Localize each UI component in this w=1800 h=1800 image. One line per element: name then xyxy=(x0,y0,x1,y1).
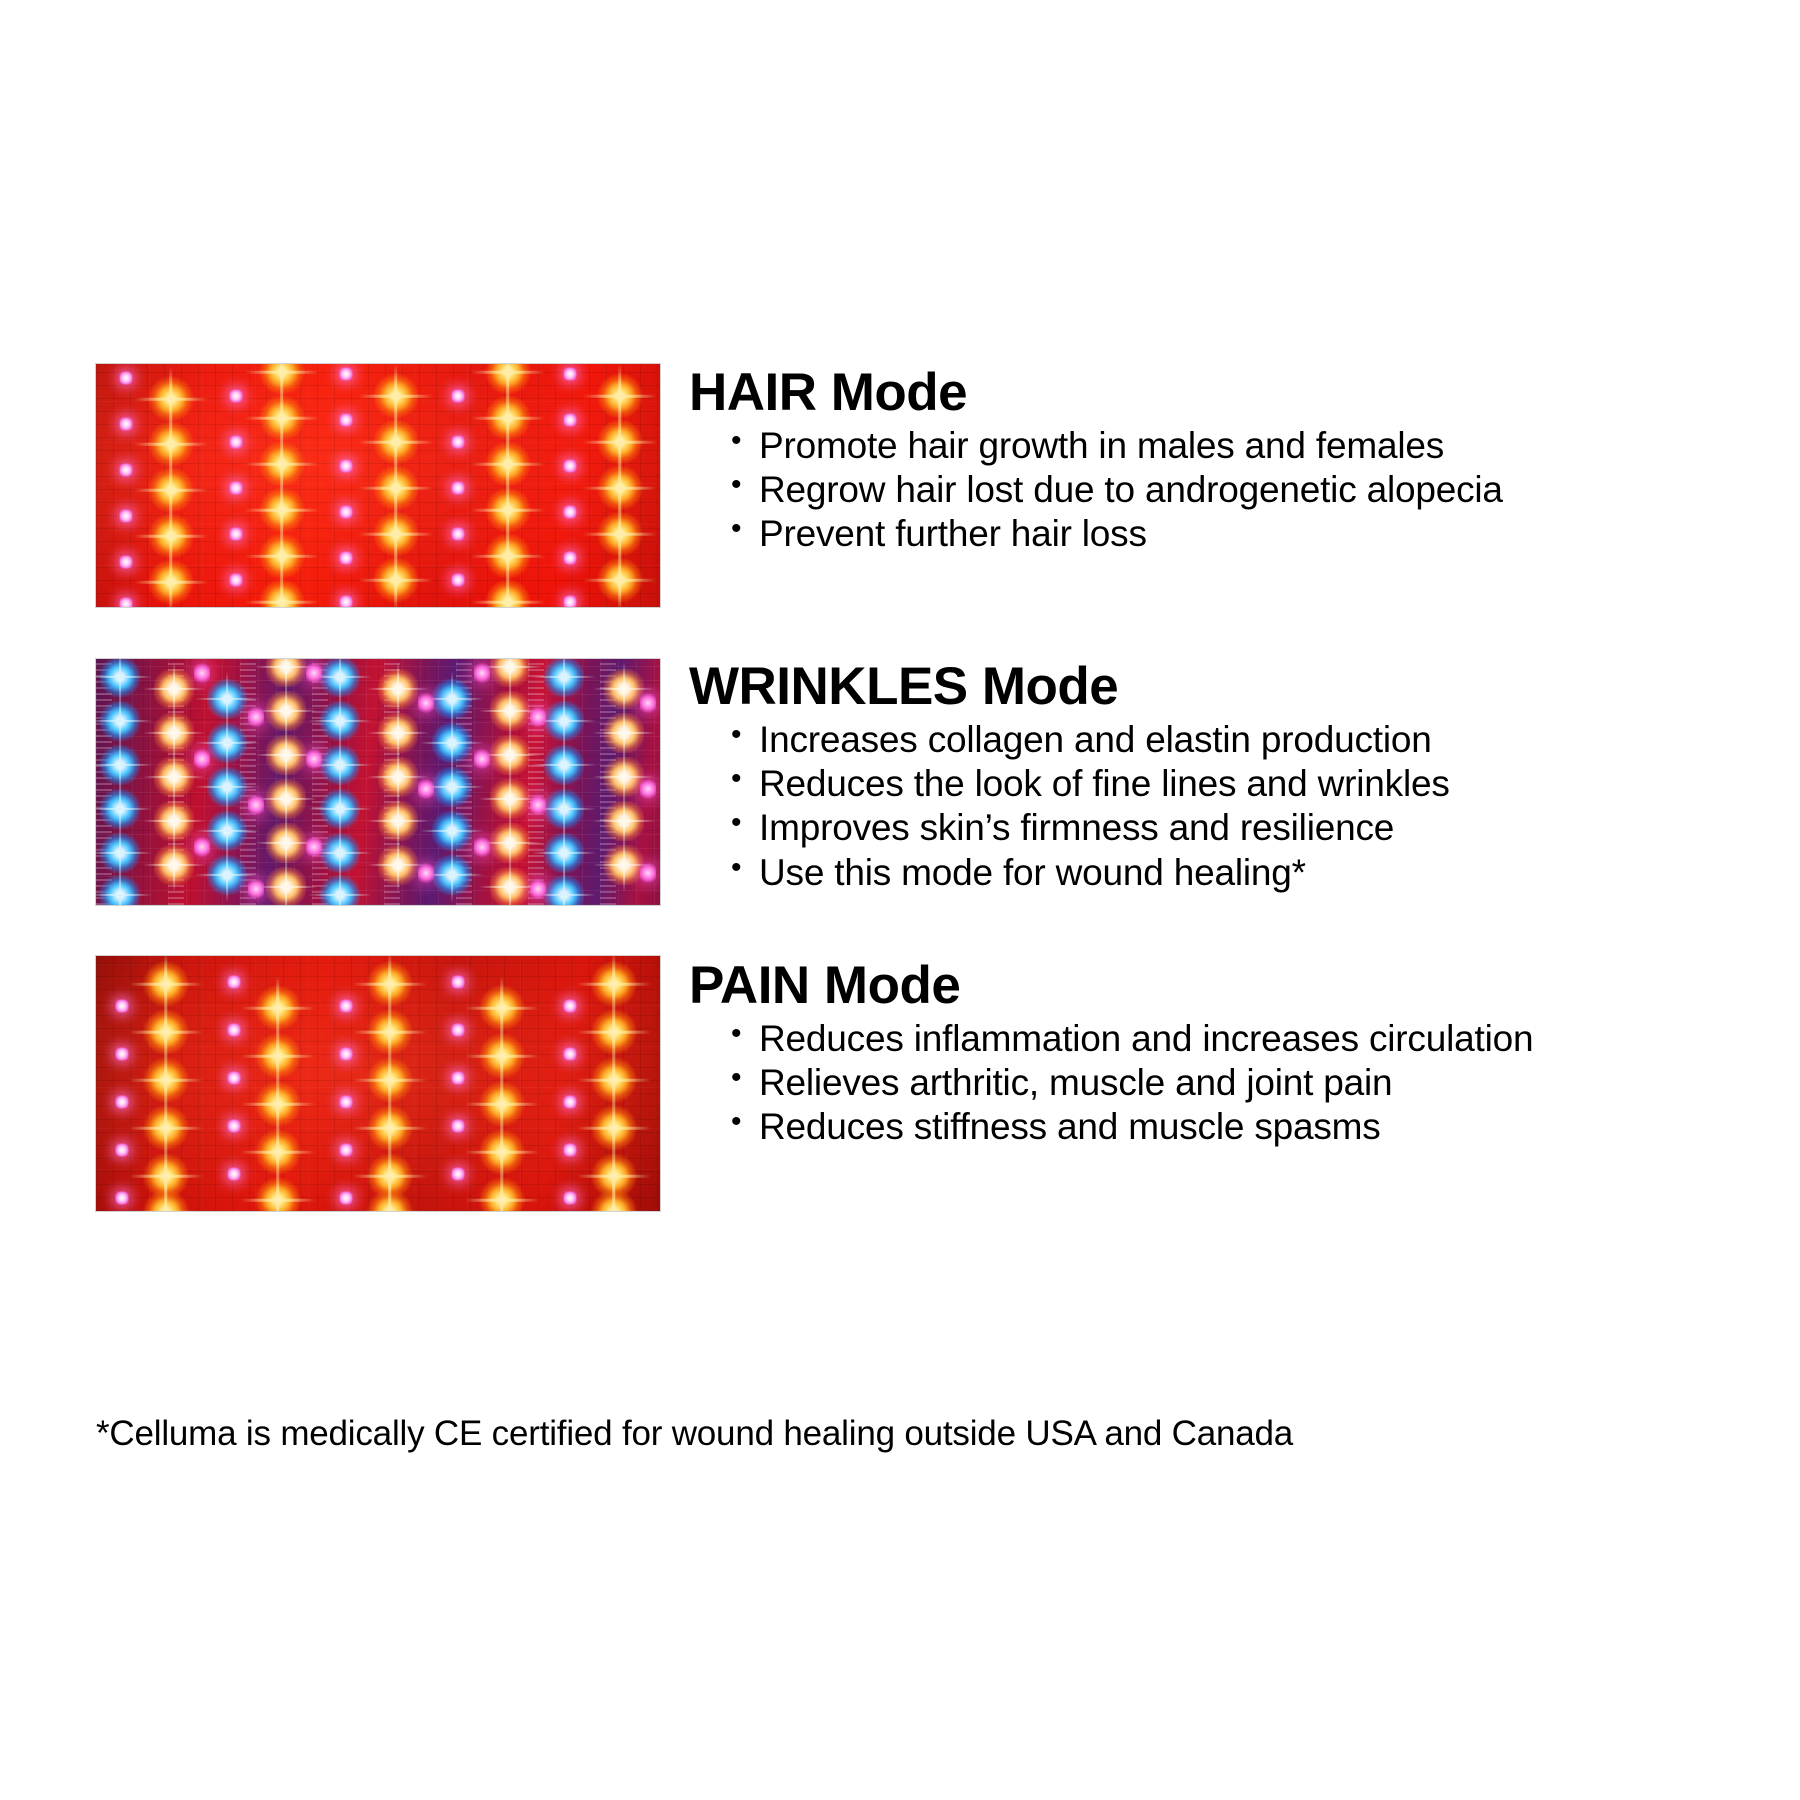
pink-led xyxy=(564,1192,577,1205)
white-led xyxy=(604,757,644,797)
footnote-text: *Celluma is medically CE certified for w… xyxy=(96,1414,1293,1454)
list-item: Reduces inflammation and increases circu… xyxy=(731,1018,1533,1060)
white-led xyxy=(378,713,418,753)
pink-led xyxy=(340,552,353,565)
blue-led xyxy=(432,723,472,763)
pink-led xyxy=(452,1120,465,1133)
magenta-led xyxy=(306,663,322,683)
blue-led xyxy=(544,701,584,741)
magenta-led xyxy=(530,707,546,727)
blue-led xyxy=(432,855,472,895)
pink-led xyxy=(120,418,133,431)
pink-led xyxy=(564,368,577,381)
list-item: Increases collagen and elastin productio… xyxy=(731,719,1450,761)
mode-text-pain: PAIN Mode Reduces inflammation and incre… xyxy=(689,955,1533,1151)
blue-led xyxy=(207,723,247,763)
magenta-led xyxy=(418,863,434,883)
mode-section-pain: PAIN Mode Reduces inflammation and incre… xyxy=(0,955,1800,1212)
blue-led xyxy=(544,789,584,829)
pink-led xyxy=(228,1168,241,1181)
blue-led xyxy=(100,658,140,697)
pink-led xyxy=(340,1192,353,1205)
white-led xyxy=(490,691,530,731)
magenta-led xyxy=(194,663,210,683)
blue-led xyxy=(207,855,247,895)
pink-led xyxy=(120,372,133,385)
list-item: Reduces stiffness and muscle spasms xyxy=(731,1106,1533,1148)
magenta-led xyxy=(474,837,490,857)
infographic-page: HAIR Mode Promote hair growth in males a… xyxy=(0,0,1800,1800)
white-led xyxy=(266,691,306,731)
list-item: Regrow hair lost due to androgenetic alo… xyxy=(731,469,1503,511)
blue-led xyxy=(432,767,472,807)
pink-led xyxy=(230,436,243,449)
pink-led xyxy=(230,390,243,403)
pink-led xyxy=(340,368,353,381)
magenta-led xyxy=(640,863,656,883)
pink-led xyxy=(116,1096,129,1109)
led-panel-wrinkles xyxy=(95,658,661,906)
mode-section-hair: HAIR Mode Promote hair growth in males a… xyxy=(0,363,1800,608)
led-panel-pain xyxy=(95,955,661,1212)
white-led xyxy=(490,658,530,687)
amber-led xyxy=(255,1177,301,1212)
pink-led xyxy=(340,506,353,519)
pink-led xyxy=(116,1000,129,1013)
white-led xyxy=(490,779,530,819)
mode-text-wrinkles: WRINKLES Mode Increases collagen and ela… xyxy=(689,658,1450,896)
pink-led xyxy=(452,1168,465,1181)
blue-led xyxy=(432,811,472,851)
pink-led xyxy=(564,1096,577,1109)
pink-led xyxy=(340,596,353,609)
white-led xyxy=(378,757,418,797)
blue-led xyxy=(320,875,360,906)
white-led xyxy=(266,779,306,819)
amber-led xyxy=(597,557,643,603)
pink-led xyxy=(228,1072,241,1085)
magenta-led xyxy=(194,749,210,769)
amber-led xyxy=(148,559,194,605)
amber-led xyxy=(367,1189,413,1212)
pink-led xyxy=(452,482,465,495)
white-led xyxy=(490,823,530,863)
white-led xyxy=(604,845,644,885)
magenta-led xyxy=(474,663,490,683)
blue-led xyxy=(100,701,140,741)
magenta-led xyxy=(306,837,322,857)
pink-led xyxy=(564,460,577,473)
blue-led xyxy=(544,658,584,697)
pink-led xyxy=(452,1024,465,1037)
pink-led xyxy=(340,414,353,427)
mode-title-pain: PAIN Mode xyxy=(689,959,1533,1012)
magenta-led xyxy=(418,693,434,713)
list-item: Improves skin’s firmness and resilience xyxy=(731,807,1450,849)
white-led xyxy=(266,735,306,775)
pink-led xyxy=(564,1000,577,1013)
blue-led xyxy=(320,745,360,785)
white-led xyxy=(154,669,194,709)
pink-led xyxy=(230,574,243,587)
pink-led xyxy=(564,596,577,609)
mode-title-wrinkles: WRINKLES Mode xyxy=(689,660,1450,713)
pink-led xyxy=(120,556,133,569)
pink-led xyxy=(230,528,243,541)
list-item: Prevent further hair loss xyxy=(731,513,1503,555)
magenta-led xyxy=(306,749,322,769)
magenta-led xyxy=(640,779,656,799)
bullet-list-wrinkles: Increases collagen and elastin productio… xyxy=(689,719,1450,894)
blue-led xyxy=(100,789,140,829)
blue-led xyxy=(544,745,584,785)
magenta-led xyxy=(530,795,546,815)
white-led xyxy=(490,867,530,906)
list-item: Reduces the look of fine lines and wrink… xyxy=(731,763,1450,805)
amber-led xyxy=(479,1177,525,1212)
pink-led xyxy=(228,976,241,989)
magenta-led xyxy=(640,693,656,713)
blue-led xyxy=(320,658,360,697)
bullet-list-hair: Promote hair growth in males and females… xyxy=(689,425,1503,556)
mode-text-hair: HAIR Mode Promote hair growth in males a… xyxy=(689,363,1503,558)
magenta-led xyxy=(248,879,264,899)
pink-led xyxy=(228,1024,241,1037)
white-led xyxy=(378,801,418,841)
pink-led xyxy=(116,1192,129,1205)
pink-led xyxy=(120,510,133,523)
pink-led xyxy=(564,414,577,427)
pink-led xyxy=(120,464,133,477)
mode-section-wrinkles: WRINKLES Mode Increases collagen and ela… xyxy=(0,658,1800,906)
pink-led xyxy=(116,1048,129,1061)
pink-led xyxy=(120,598,133,609)
amber-led xyxy=(373,557,419,603)
magenta-led xyxy=(474,749,490,769)
pink-led xyxy=(452,1072,465,1085)
pink-led xyxy=(116,1144,129,1157)
list-item: Relieves arthritic, muscle and joint pai… xyxy=(731,1062,1533,1104)
blue-led xyxy=(207,767,247,807)
list-item: Promote hair growth in males and females xyxy=(731,425,1503,467)
white-led xyxy=(154,845,194,885)
pink-led xyxy=(452,976,465,989)
amber-led xyxy=(143,1189,189,1212)
amber-led xyxy=(485,579,531,608)
white-led xyxy=(154,757,194,797)
mode-title-hair: HAIR Mode xyxy=(689,366,1503,419)
blue-led xyxy=(207,679,247,719)
white-led xyxy=(490,735,530,775)
white-led xyxy=(604,801,644,841)
white-led xyxy=(266,867,306,906)
white-led xyxy=(378,669,418,709)
pink-led xyxy=(340,1096,353,1109)
blue-led xyxy=(432,679,472,719)
white-led xyxy=(604,713,644,753)
blue-led xyxy=(207,811,247,851)
magenta-led xyxy=(248,795,264,815)
bullet-list-pain: Reduces inflammation and increases circu… xyxy=(689,1018,1533,1149)
pink-led xyxy=(340,1048,353,1061)
pink-led xyxy=(564,1048,577,1061)
blue-led xyxy=(100,745,140,785)
pink-led xyxy=(340,1000,353,1013)
pink-led xyxy=(452,390,465,403)
pink-led xyxy=(228,1120,241,1133)
pink-led xyxy=(452,574,465,587)
amber-led xyxy=(259,579,305,608)
magenta-led xyxy=(530,879,546,899)
pink-led xyxy=(564,1144,577,1157)
magenta-led xyxy=(194,837,210,857)
list-item: Use this mode for wound healing* xyxy=(731,852,1450,894)
white-led xyxy=(154,801,194,841)
pink-led xyxy=(564,506,577,519)
white-led xyxy=(604,669,644,709)
pink-led xyxy=(452,436,465,449)
pink-led xyxy=(340,1144,353,1157)
white-led xyxy=(154,713,194,753)
white-led xyxy=(378,845,418,885)
pink-led xyxy=(230,482,243,495)
pink-led xyxy=(564,552,577,565)
magenta-led xyxy=(248,707,264,727)
pink-led xyxy=(340,460,353,473)
blue-led xyxy=(544,875,584,906)
led-panel-hair xyxy=(95,363,661,608)
blue-led xyxy=(320,701,360,741)
white-led xyxy=(266,658,306,687)
blue-led xyxy=(100,875,140,906)
amber-led xyxy=(591,1189,637,1212)
magenta-led xyxy=(418,779,434,799)
white-led xyxy=(266,823,306,863)
blue-led xyxy=(320,789,360,829)
pink-led xyxy=(452,528,465,541)
